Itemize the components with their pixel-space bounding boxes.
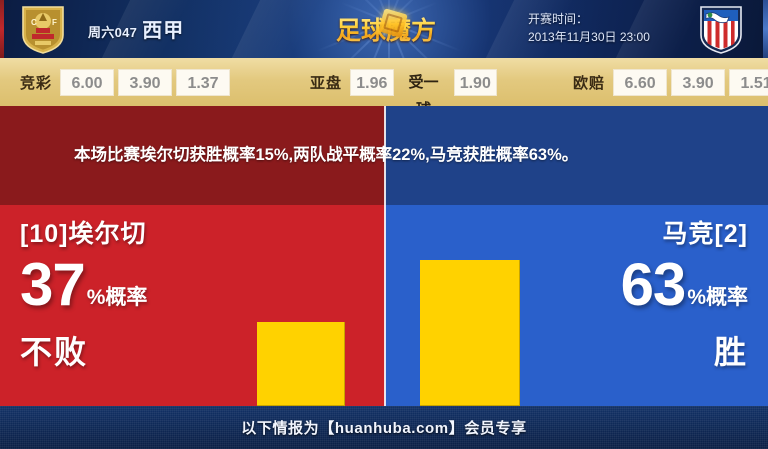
footer-text: 以下情报为【huanhuba.com】会员专享 bbox=[241, 417, 526, 438]
odds-cell-home[interactable]: 6.00 bbox=[60, 69, 114, 96]
home-team-name: [10]埃尔切 bbox=[20, 219, 147, 249]
panel-divider bbox=[384, 106, 386, 406]
home-team-block: [10]埃尔切 37 %概率 不败 bbox=[20, 205, 147, 373]
odds-group-asian: 亚盘 1.96 受一球 1.90 bbox=[310, 69, 501, 96]
odds-cell-home[interactable]: 6.60 bbox=[613, 69, 667, 96]
odds-cell-draw[interactable]: 3.90 bbox=[118, 69, 172, 96]
svg-text:F: F bbox=[52, 18, 57, 27]
odds-group-title: 竞彩 bbox=[20, 72, 52, 93]
away-team-block: 马竞[2] 63 %概率 胜 bbox=[621, 205, 748, 373]
footer-bar: 以下情报为【huanhuba.com】会员专享 bbox=[0, 406, 768, 449]
away-probability-bar bbox=[420, 260, 520, 406]
probability-panels: 本场比赛埃尔切获胜概率15%,两队战平概率22%,马竞获胜概率63%。 [10]… bbox=[0, 106, 768, 406]
match-label: 周六047西甲 bbox=[88, 14, 184, 43]
odds-group-european: 欧赔 6.60 3.90 1.51 bbox=[573, 69, 768, 96]
odds-cell-home[interactable]: 1.96 bbox=[350, 69, 394, 96]
odds-bar: 竞彩 6.00 3.90 1.37 亚盘 1.96 受一球 1.90 欧赔 6.… bbox=[0, 58, 768, 106]
odds-group-title: 欧赔 bbox=[573, 72, 605, 93]
away-probability-suffix: %概率 bbox=[687, 287, 748, 315]
away-probability: 63 %概率 bbox=[621, 255, 748, 315]
odds-cell-handicap[interactable]: 受一球 bbox=[398, 69, 450, 96]
home-probability: 37 %概率 bbox=[20, 255, 147, 315]
kickoff-time: 开赛时间： 2013年11月30日 23:00 bbox=[528, 10, 650, 46]
kickoff-value: 2013年11月30日 23:00 bbox=[528, 28, 650, 46]
headline-text: 本场比赛埃尔切获胜概率15%,两队战平概率22%,马竞获胜概率63%。 bbox=[74, 142, 578, 169]
elche-cf-crest-icon: C F bbox=[20, 4, 66, 54]
away-probability-value: 63 bbox=[621, 255, 686, 315]
match-league: 西甲 bbox=[142, 20, 184, 42]
home-probability-bar bbox=[257, 322, 345, 406]
away-result-label: 胜 bbox=[621, 327, 748, 373]
home-probability-value: 37 bbox=[20, 255, 85, 315]
odds-cell-draw[interactable]: 3.90 bbox=[671, 69, 725, 96]
away-team-name: 马竞[2] bbox=[621, 219, 748, 249]
odds-cell-away[interactable]: 1.37 bbox=[176, 69, 230, 96]
atletico-madrid-crest-icon bbox=[698, 4, 744, 54]
odds-group-jingcai: 竞彩 6.00 3.90 1.37 bbox=[20, 69, 234, 96]
header-bar: C F 周六047西甲 足球魔方 开赛时间： bbox=[0, 0, 768, 58]
home-probability-suffix: %概率 bbox=[87, 287, 148, 315]
header-left-accent bbox=[0, 0, 4, 58]
home-result-label: 不败 bbox=[20, 327, 147, 373]
odds-group-title: 亚盘 bbox=[310, 72, 342, 93]
match-probability-graphic: C F 周六047西甲 足球魔方 开赛时间： bbox=[0, 0, 768, 449]
odds-cell-away[interactable]: 1.51 bbox=[729, 69, 768, 96]
kickoff-label: 开赛时间： bbox=[528, 10, 650, 28]
header-right-accent bbox=[763, 0, 768, 58]
match-round: 周六047 bbox=[88, 25, 137, 40]
odds-cell-away[interactable]: 1.90 bbox=[454, 69, 498, 96]
brand-logo: 足球魔方 bbox=[325, 9, 447, 49]
svg-text:C: C bbox=[31, 18, 37, 27]
